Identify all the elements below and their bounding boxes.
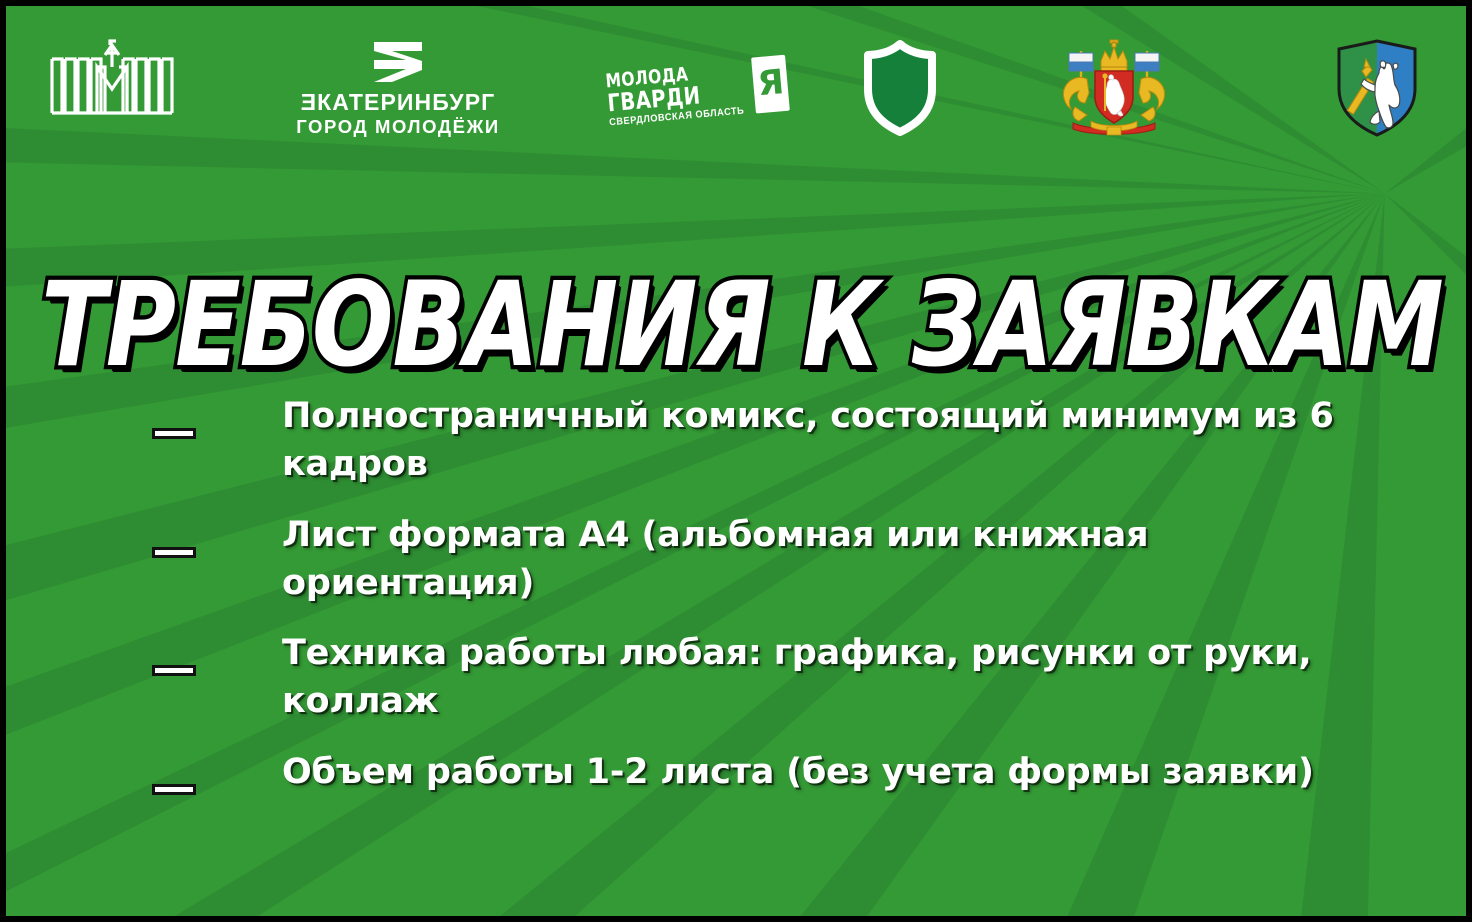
logo-shield	[854, 36, 946, 140]
requirement-text: Техника работы любая: графика, рисунки о…	[282, 629, 1362, 726]
bear-with-torch-shield-icon	[1331, 37, 1423, 139]
logo-bar: ƎКАТЕРИНБУРГ ГОРОД МОЛОДЁЖИ МОЛОДА ГВАРД…	[6, 6, 1472, 166]
list-item: Полностраничный комикс, состоящий миниму…	[6, 392, 1472, 489]
requirements-list: Полностраничный комикс, состоящий миниму…	[6, 392, 1472, 818]
mg-accent-letter: Я	[752, 55, 791, 114]
list-item: Лист формата А4 (альбомная или книжная о…	[6, 511, 1472, 608]
dash-bullet-icon	[152, 665, 196, 676]
logo-sverdlovsk-coat-of-arms	[1044, 32, 1184, 142]
poster-canvas: ƎКАТЕРИНБУРГ ГОРОД МОЛОДЁЖИ МОЛОДА ГВАРД…	[0, 0, 1472, 922]
logo-city-coat-of-arms	[1322, 34, 1432, 142]
logo-molodaya-gvardiya: МОЛОДА ГВАРДИ Я СВЕРДЛОВСКАЯ ОБЛАСТЬ	[606, 46, 756, 142]
ekaterinburg-line1: ƎКАТЕРИНБУРГ	[301, 91, 496, 114]
logo-ministry-emblem	[42, 34, 182, 124]
requirement-text: Объем работы 1-2 листа (без учета формы …	[282, 748, 1362, 796]
page-title: ТРЕБОВАНИЯ К ЗАЯВКАМ	[41, 266, 1442, 385]
requirement-text: Лист формата А4 (альбомная или книжная о…	[282, 511, 1362, 608]
dash-bullet-icon	[152, 547, 196, 558]
molodaya-gvardiya-wordmark: МОЛОДА ГВАРДИ Я СВЕРДЛОВСКАЯ ОБЛАСТЬ	[605, 61, 757, 128]
sverdlovsk-coat-of-arms-icon	[1051, 35, 1177, 139]
dash-bullet-icon	[152, 784, 196, 795]
list-item: Техника работы любая: графика, рисунки о…	[6, 629, 1472, 726]
list-item: Объем работы 1-2 листа (без учета формы …	[6, 748, 1472, 796]
ekaterinburg-line2: ГОРОД МОЛОДЁЖИ	[296, 118, 500, 137]
logo-ekaterinburg: ƎКАТЕРИНБУРГ ГОРОД МОЛОДЁЖИ	[298, 36, 498, 140]
kremlin-wall-m-emblem-icon	[47, 37, 177, 121]
ekaterinburg-e-mark-icon	[370, 40, 426, 84]
shield-icon	[861, 40, 939, 136]
dash-bullet-icon	[152, 428, 196, 439]
requirement-text: Полностраничный комикс, состоящий миниму…	[282, 392, 1362, 489]
